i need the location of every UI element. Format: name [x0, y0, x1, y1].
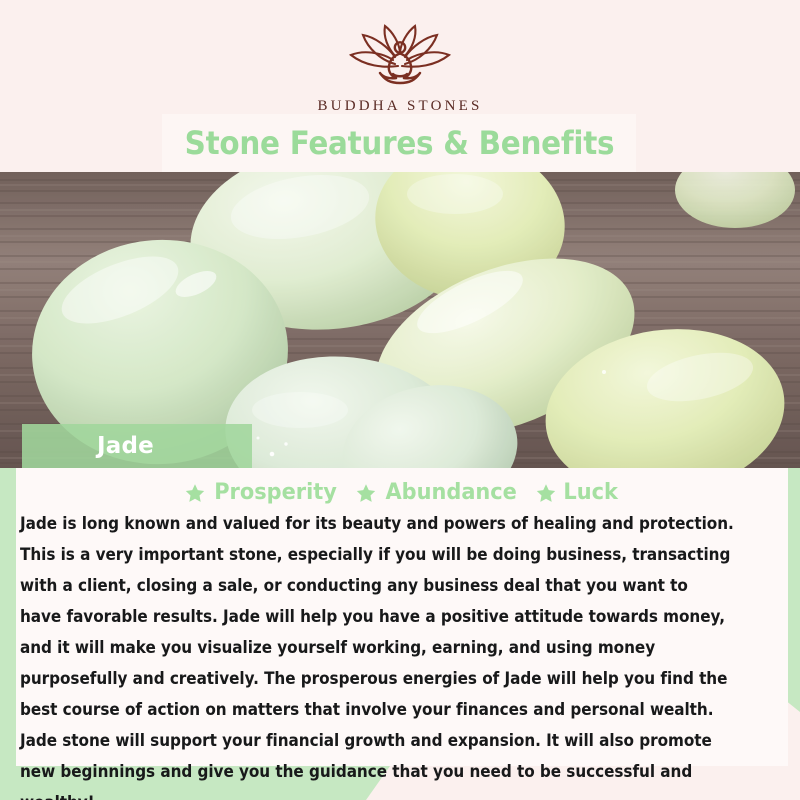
keyword-label: Prosperity — [214, 480, 337, 505]
star-icon — [356, 483, 376, 503]
lotus-meditation-icon — [335, 22, 465, 92]
keyword-item: Prosperity — [185, 480, 340, 505]
keyword-label: Luck — [563, 480, 617, 505]
page-title-band: Stone Features & Benefits — [162, 114, 636, 172]
stone-benefits-poster: BUDDHA STONES Stone Features & Benefits — [0, 0, 800, 800]
stone-name-band: Jade — [22, 424, 252, 468]
brand-logo: BUDDHA STONES — [0, 22, 800, 115]
page-title: Stone Features & Benefits — [184, 124, 614, 162]
keyword-list: Prosperity Abundance Luck — [16, 480, 788, 505]
stone-description: Jade is long known and valued for its be… — [20, 508, 734, 800]
star-icon — [185, 483, 205, 503]
content-panel: Prosperity Abundance Luck Jade is long k… — [16, 468, 788, 766]
keyword-label: Abundance — [385, 480, 516, 505]
star-icon — [536, 483, 556, 503]
brand-name: BUDDHA STONES — [0, 98, 800, 115]
keyword-item: Luck — [536, 480, 619, 505]
stone-name: Jade — [97, 433, 154, 459]
keyword-item: Abundance — [356, 480, 520, 505]
